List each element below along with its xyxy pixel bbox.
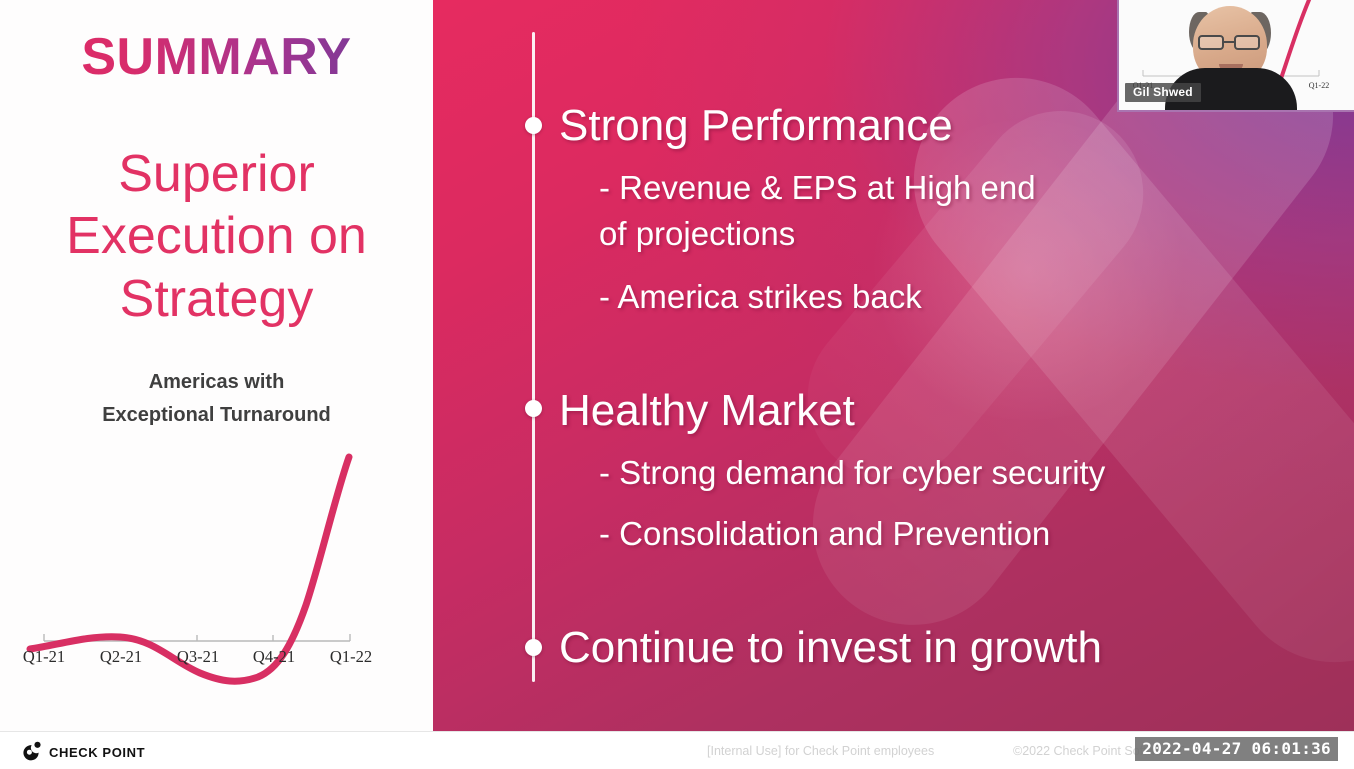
timeline-dot (525, 639, 542, 656)
bullet-heading: Continue to invest in growth (559, 625, 1102, 671)
headline-line-1: Superior (0, 143, 433, 205)
chart-caption: Americas with Exceptional Turnaround (0, 366, 433, 432)
check-point-logo: CHECK POINT (20, 741, 145, 763)
slide-left-panel: SUMMARY Superior Execution on Strategy A… (0, 0, 433, 731)
bullet-sub-list: - Revenue & EPS at High end of projectio… (559, 165, 1036, 320)
turnaround-line-chart: Q1-21 Q2-21 Q3-21 Q4-21 Q1-22 (10, 445, 423, 705)
bullet-sub-item: - Strong demand for cyber security (599, 450, 1105, 496)
bullet-block-healthy-market: Healthy Market - Strong demand for cyber… (559, 388, 1105, 556)
glasses-lens-left (1198, 35, 1224, 50)
bullet-sub-item: - Revenue & EPS at High end (599, 165, 1036, 211)
glasses-bridge (1224, 41, 1234, 43)
slide-headline: Superior Execution on Strategy (0, 143, 433, 330)
webcam-participant-name: Gil Shwed (1125, 83, 1201, 102)
check-point-logo-icon (20, 741, 42, 763)
chart-xtick-0: Q1-21 (23, 647, 65, 666)
internal-use-note: [Internal Use] for Check Point employees (707, 744, 934, 758)
bullet-sub-item: - Consolidation and Prevention (599, 511, 1105, 557)
chart-xtick-2: Q3-21 (177, 647, 219, 666)
bullet-sub-list: - Strong demand for cyber security - Con… (559, 450, 1105, 556)
timeline-dot (525, 117, 542, 134)
chart-caption-line-1: Americas with (0, 366, 433, 399)
chart-xtick-labels: Q1-21 Q2-21 Q3-21 Q4-21 Q1-22 (23, 647, 372, 666)
chart-caption-line-2: Exceptional Turnaround (0, 399, 433, 432)
bullet-sub-item: - America strikes back (599, 274, 1036, 320)
chart-xtick-3: Q4-21 (253, 647, 295, 666)
bullet-block-strong-performance: Strong Performance - Revenue & EPS at Hi… (559, 103, 1036, 320)
chart-xtick-4: Q1-22 (330, 647, 372, 666)
bullet-heading: Strong Performance (559, 103, 1036, 149)
bullet-block-invest-growth: Continue to invest in growth (559, 625, 1102, 671)
chart-xtick-1: Q2-21 (100, 647, 142, 666)
recording-timestamp: 2022-04-27 06:01:36 (1135, 737, 1338, 761)
glasses-lens-right (1234, 35, 1260, 50)
webcam-chart-label-end: Q1-22 (1309, 81, 1329, 90)
headline-line-2: Execution on (0, 205, 433, 267)
presentation-slide: SUMMARY Superior Execution on Strategy A… (0, 0, 1354, 731)
timeline-dot (525, 400, 542, 417)
slide-eyebrow-title: SUMMARY (0, 31, 433, 83)
glasses-icon (1198, 35, 1262, 50)
check-point-logo-text: CHECK POINT (49, 745, 145, 760)
bullet-heading: Healthy Market (559, 388, 1105, 434)
screen-capture-frame: SUMMARY Superior Execution on Strategy A… (0, 0, 1354, 769)
bullet-sub-item: of projections (599, 211, 1036, 257)
headline-line-3: Strategy (0, 268, 433, 330)
webcam-video-tile[interactable]: Q1-21 Q1-22 Gil Shwed (1117, 0, 1354, 112)
